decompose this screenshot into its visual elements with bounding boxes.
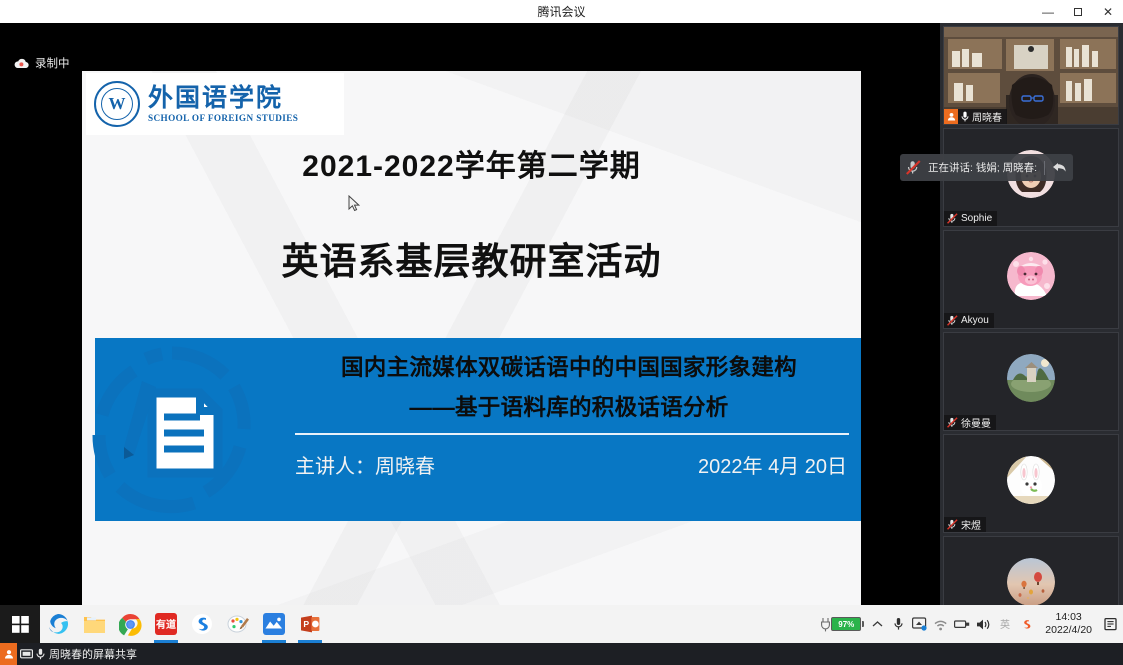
- maximize-button[interactable]: [1063, 0, 1093, 23]
- participant-tile[interactable]: 徐曼曼: [943, 332, 1119, 431]
- participants-panel[interactable]: 周晓春: [940, 23, 1123, 605]
- sogou-input-icon: [191, 613, 213, 635]
- folder-icon: [83, 614, 106, 635]
- windows-taskbar[interactable]: 有道: [0, 605, 1123, 643]
- microphone-tray-icon[interactable]: [891, 617, 906, 631]
- host-badge: [944, 109, 958, 124]
- onedrive-tray-icon[interactable]: [912, 617, 927, 631]
- participant-name: 宋煜: [961, 517, 981, 532]
- participant-nametag: Akyou: [944, 313, 994, 328]
- recording-label: 录制中: [35, 55, 70, 71]
- powerpoint-icon[interactable]: P: [292, 605, 328, 643]
- svg-text:P: P: [303, 619, 309, 629]
- maximize-icon: [1073, 7, 1083, 17]
- presentation-slide: 外国语学院 SCHOOL OF FOREIGN STUDIES 2021-202…: [82, 71, 861, 628]
- share-status-text: 周晓春的屏幕共享: [49, 646, 137, 662]
- host-person-icon: [4, 649, 14, 659]
- share-mini-icons: [20, 648, 45, 660]
- avatar: [1007, 558, 1055, 606]
- school-seal-icon: [94, 81, 140, 127]
- clock-time: 14:03: [1056, 611, 1082, 624]
- school-logo: 外国语学院 SCHOOL OF FOREIGN STUDIES: [86, 73, 344, 135]
- battery-indicator[interactable]: 97%: [821, 617, 864, 632]
- slide-topic-line2: ——基于语料库的积极话语分析: [285, 390, 853, 422]
- recording-indicator[interactable]: 录制中: [14, 55, 70, 71]
- shared-screen-stage[interactable]: 录制中 外国语学院 SCHOOL OF FOREIGN STUDIES 2021…: [0, 23, 940, 605]
- avatar: [1007, 252, 1055, 300]
- file-explorer-icon[interactable]: [76, 605, 112, 643]
- avatar-image: [1007, 456, 1055, 504]
- avatar-image: [1007, 558, 1055, 606]
- avatar: [1007, 354, 1055, 402]
- battery-level: 97%: [831, 617, 861, 631]
- paint-3d-icon: [227, 613, 249, 635]
- sogou-icon[interactable]: [184, 605, 220, 643]
- school-name-cn: 外国语学院: [148, 85, 298, 110]
- host-person-icon: [947, 112, 956, 121]
- slide-semester-line: 2021-2022学年第二学期: [82, 141, 861, 185]
- slide-topic-line1: 国内主流媒体双碳话语中的中国国家形象建构: [285, 350, 853, 382]
- slide-event-line: 英语系基层教研室活动: [82, 231, 861, 285]
- avatar-image: [1007, 252, 1055, 300]
- start-button[interactable]: [0, 605, 40, 643]
- mic-icon: [894, 617, 903, 631]
- wifi-icon: [933, 618, 948, 631]
- participant-name: Sophie: [961, 213, 992, 224]
- window-controls: — ✕: [1033, 0, 1123, 23]
- minimize-button[interactable]: —: [1033, 0, 1063, 23]
- slide-date: 2022年 4月 20日: [698, 450, 847, 479]
- clock-date: 2022/4/20: [1045, 624, 1092, 637]
- mic-muted-icon: [906, 160, 921, 175]
- participant-nametag: 周晓春: [958, 109, 1007, 124]
- reply-arrow-icon[interactable]: [1052, 161, 1067, 174]
- edge-browser-icon: [46, 612, 70, 636]
- screen-share-icon: [20, 649, 33, 660]
- power-plug-icon: [821, 617, 830, 632]
- mic-muted-icon: [947, 417, 958, 428]
- chrome-icon[interactable]: [112, 605, 148, 643]
- wifi-tray-icon[interactable]: [933, 618, 948, 631]
- sogou-pinyin-icon: [1019, 617, 1033, 631]
- chrome-browser-icon: [119, 613, 142, 636]
- ethernet-icon: [954, 618, 970, 630]
- speaking-text: 正在讲话: 钱娟; 周晓春:: [928, 160, 1037, 175]
- window-title: 腾讯会议: [537, 3, 585, 20]
- taskbar-clock[interactable]: 14:03 2022/4/20: [1039, 611, 1098, 637]
- ime-status-icon: 英: [998, 618, 1012, 631]
- paint-icon[interactable]: [220, 605, 256, 643]
- speaker-icon: [976, 618, 991, 631]
- toast-divider: [1044, 161, 1045, 175]
- school-name-en: SCHOOL OF FOREIGN STUDIES: [148, 114, 298, 123]
- youdao-dict-icon: 有道: [155, 613, 177, 635]
- volume-tray-icon[interactable]: [976, 618, 991, 631]
- taskbar-app-list: 有道: [0, 605, 328, 643]
- participant-name: 徐曼曼: [961, 415, 991, 430]
- avatar: [1007, 456, 1055, 504]
- participant-name: Akyou: [961, 315, 989, 326]
- mic-icon: [961, 111, 969, 122]
- mic-muted-icon: [947, 315, 958, 326]
- sogou-tray-icon[interactable]: [1018, 617, 1033, 631]
- mic-muted-icon: [947, 519, 958, 530]
- participant-tile[interactable]: 周晓春: [943, 26, 1119, 125]
- participant-nametag: 徐曼曼: [944, 415, 996, 430]
- youdao-icon[interactable]: 有道: [148, 605, 184, 643]
- powerpoint-app-icon: P: [299, 613, 321, 635]
- window-title-bar: 腾讯会议 — ✕: [0, 0, 1123, 23]
- network-tray-icon[interactable]: [954, 618, 970, 630]
- avatar-image: [1007, 354, 1055, 402]
- mouse-cursor: [348, 195, 360, 212]
- participant-tile[interactable]: 宋煜: [943, 434, 1119, 533]
- system-tray: 97%: [821, 605, 1123, 643]
- ime-tray-icon[interactable]: 英: [997, 618, 1012, 631]
- screen-share-icon: [912, 617, 927, 631]
- edge-icon[interactable]: [40, 605, 76, 643]
- svg-text:有道: 有道: [156, 618, 176, 631]
- cloud-record-icon: [14, 58, 29, 69]
- battery-percent: 97%: [838, 620, 854, 629]
- action-center-button[interactable]: [1104, 617, 1119, 632]
- svg-text:英: 英: [1000, 618, 1010, 631]
- share-host-badge: [0, 643, 17, 665]
- speaking-toast[interactable]: 正在讲话: 钱娟; 周晓春:: [900, 154, 1073, 181]
- participant-tile[interactable]: Akyou: [943, 230, 1119, 329]
- slide-presenter: 主讲人：周晓春: [295, 450, 435, 479]
- close-button[interactable]: ✕: [1093, 0, 1123, 23]
- chevron-up-icon: [872, 620, 883, 628]
- show-hidden-icons-button[interactable]: [870, 620, 885, 628]
- mic-icon: [36, 648, 45, 660]
- windows-logo-icon: [12, 616, 29, 633]
- notification-icon: [1104, 617, 1119, 632]
- screen-share-bar[interactable]: 周晓春的屏幕共享: [0, 643, 1123, 665]
- tencent-meeting-icon[interactable]: [256, 605, 292, 643]
- battery-terminal: [862, 621, 864, 627]
- participant-nametag: 宋煜: [944, 517, 986, 532]
- meeting-window: 录制中 外国语学院 SCHOOL OF FOREIGN STUDIES 2021…: [0, 23, 1123, 605]
- tencent-meeting-app-icon: [263, 613, 285, 635]
- mic-muted-icon: [947, 213, 958, 224]
- participant-name: 周晓春: [972, 109, 1002, 124]
- participant-nametag: Sophie: [944, 211, 997, 226]
- band-divider: [295, 433, 849, 435]
- document-pen-icon: [90, 343, 254, 515]
